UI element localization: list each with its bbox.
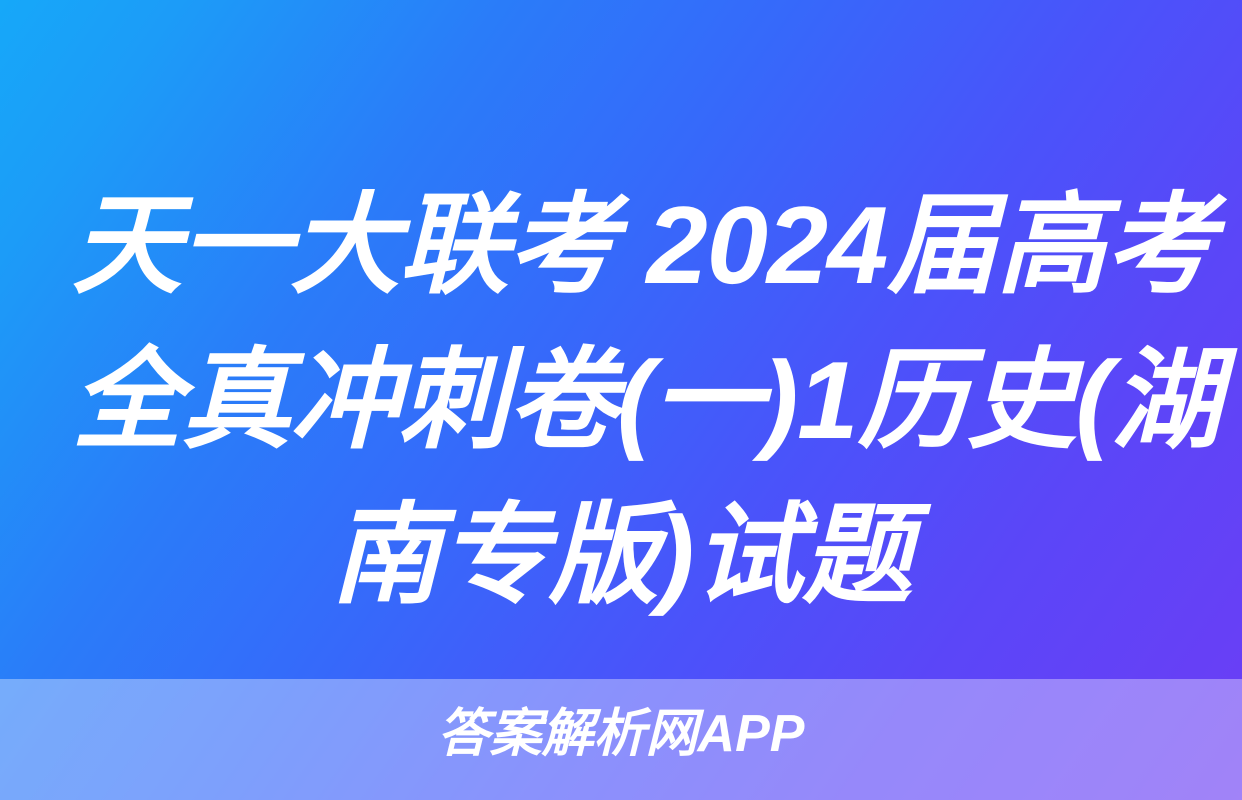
app-watermark-label: 答案解析网APP bbox=[438, 705, 805, 763]
title-line-2: 全真冲刺卷(一)1历史(湖 bbox=[72, 323, 1170, 478]
footer-band: 答案解析网APP bbox=[0, 679, 1242, 800]
title-line-1: 天一大联考 2024届高考 bbox=[72, 168, 1170, 323]
watermark-container: 答案解析网APP bbox=[0, 679, 1242, 800]
exam-paper-banner: 天一大联考 2024届高考 全真冲刺卷(一)1历史(湖 南专版)试题 答案解析网… bbox=[0, 0, 1242, 800]
title-line-3: 南专版)试题 bbox=[72, 478, 1170, 633]
banner-title: 天一大联考 2024届高考 全真冲刺卷(一)1历史(湖 南专版)试题 bbox=[72, 168, 1170, 633]
